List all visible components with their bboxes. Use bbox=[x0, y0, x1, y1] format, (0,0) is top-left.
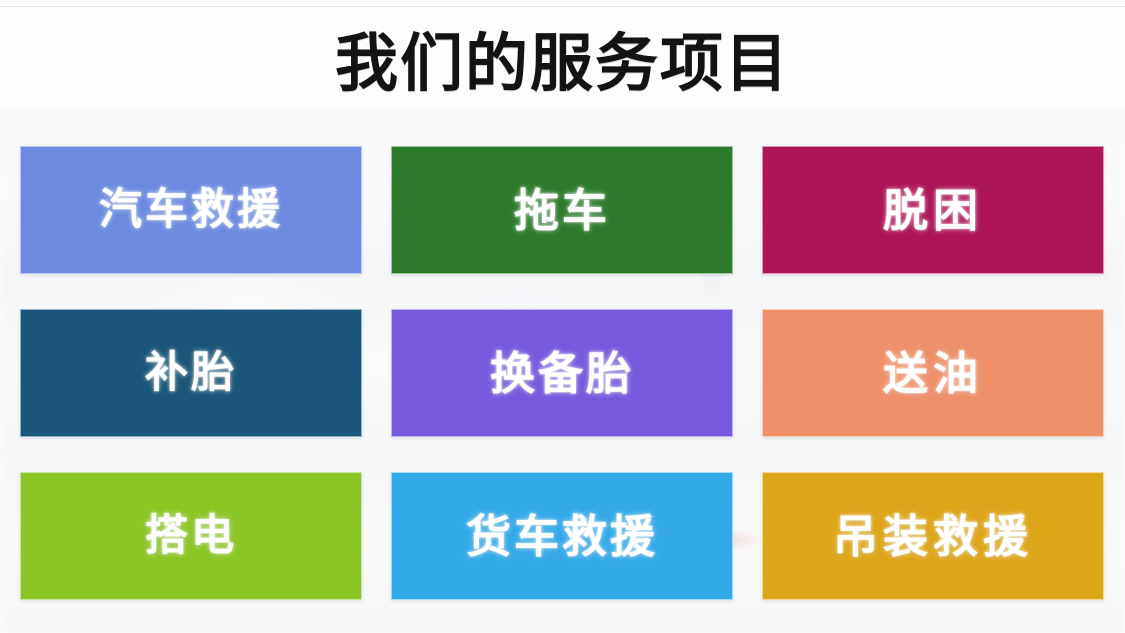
service-tile-roadside-assistance[interactable]: 汽车救援 bbox=[20, 146, 362, 274]
service-tile-label: 汽车救援 bbox=[99, 189, 283, 232]
service-tile-label: 换备胎 bbox=[490, 351, 634, 396]
service-tile-label: 吊装救援 bbox=[833, 514, 1033, 559]
service-tile-spare-tire-change[interactable]: 换备胎 bbox=[391, 309, 733, 437]
service-grid: 汽车救援拖车脱困补胎换备胎送油搭电货车救援吊装救援 bbox=[20, 146, 1104, 600]
service-tile-crane-lifting-rescue[interactable]: 吊装救援 bbox=[762, 472, 1104, 600]
page-title: 我们的服务项目 bbox=[0, 20, 1125, 108]
service-tile-label: 补胎 bbox=[145, 352, 237, 395]
service-tile-tire-repair[interactable]: 补胎 bbox=[20, 309, 362, 437]
service-tile-label: 拖车 bbox=[514, 188, 610, 233]
service-tile-label: 送油 bbox=[883, 351, 983, 396]
service-tile-jump-start[interactable]: 搭电 bbox=[20, 472, 362, 600]
service-tile-label: 搭电 bbox=[145, 515, 237, 558]
service-tile-label: 货车救援 bbox=[466, 514, 658, 559]
service-tile-extrication[interactable]: 脱困 bbox=[762, 146, 1104, 274]
service-tile-towing[interactable]: 拖车 bbox=[391, 146, 733, 274]
service-tile-fuel-delivery[interactable]: 送油 bbox=[762, 309, 1104, 437]
service-tile-truck-rescue[interactable]: 货车救援 bbox=[391, 472, 733, 600]
service-tile-label: 脱困 bbox=[883, 188, 983, 233]
top-hairline-divider bbox=[0, 6, 1125, 7]
